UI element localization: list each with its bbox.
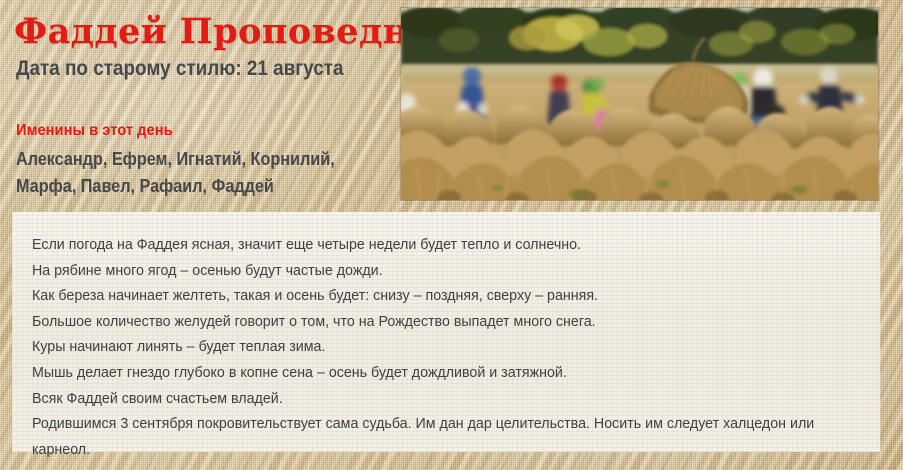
nameday-names-line-1: Александр, Ефрем, Игнатий, Корнилий, bbox=[16, 146, 394, 173]
omen-line: карнеол. bbox=[32, 437, 874, 463]
omen-line: Родившимся 3 сентября покровительствует … bbox=[32, 411, 874, 437]
day-calendar-card: Фаддей Проповедник Дата по старому стилю… bbox=[0, 0, 903, 470]
omen-line: Как береза начинает желтеть, такая и осе… bbox=[32, 283, 874, 309]
nameday-block: Именины в этот день Александр, Ефрем, Иг… bbox=[16, 120, 390, 200]
header-column: Фаддей Проповедник Дата по старому стилю… bbox=[0, 0, 400, 212]
harvest-photo-illustration bbox=[401, 8, 878, 200]
omen-line: Мышь делает гнездо глубоко в копне сена … bbox=[32, 360, 874, 386]
folk-omens-panel: Если погода на Фаддея ясная, значит еще … bbox=[12, 212, 880, 452]
page-title: Фаддей Проповедник bbox=[14, 12, 390, 52]
old-style-date: Дата по старому стилю: 21 августа bbox=[16, 56, 353, 82]
nameday-heading: Именины в этот день bbox=[16, 120, 360, 141]
omen-line: Куры начинают линять – будет теплая зима… bbox=[32, 334, 874, 360]
omen-line: Большое количество желудей говорит о том… bbox=[32, 309, 874, 335]
omen-line: На рябине много ягод – осенью будут част… bbox=[32, 258, 874, 284]
nameday-names: Александр, Ефрем, Игнатий, Корнилий, Мар… bbox=[16, 146, 394, 200]
omen-line: Если погода на Фаддея ясная, значит еще … bbox=[32, 232, 874, 258]
omen-line: Всяк Фаддей своим счастьем владей. bbox=[32, 386, 874, 412]
harvest-photo bbox=[401, 8, 878, 200]
nameday-names-line-2: Марфа, Павел, Рафаил, Фаддей bbox=[16, 173, 394, 200]
